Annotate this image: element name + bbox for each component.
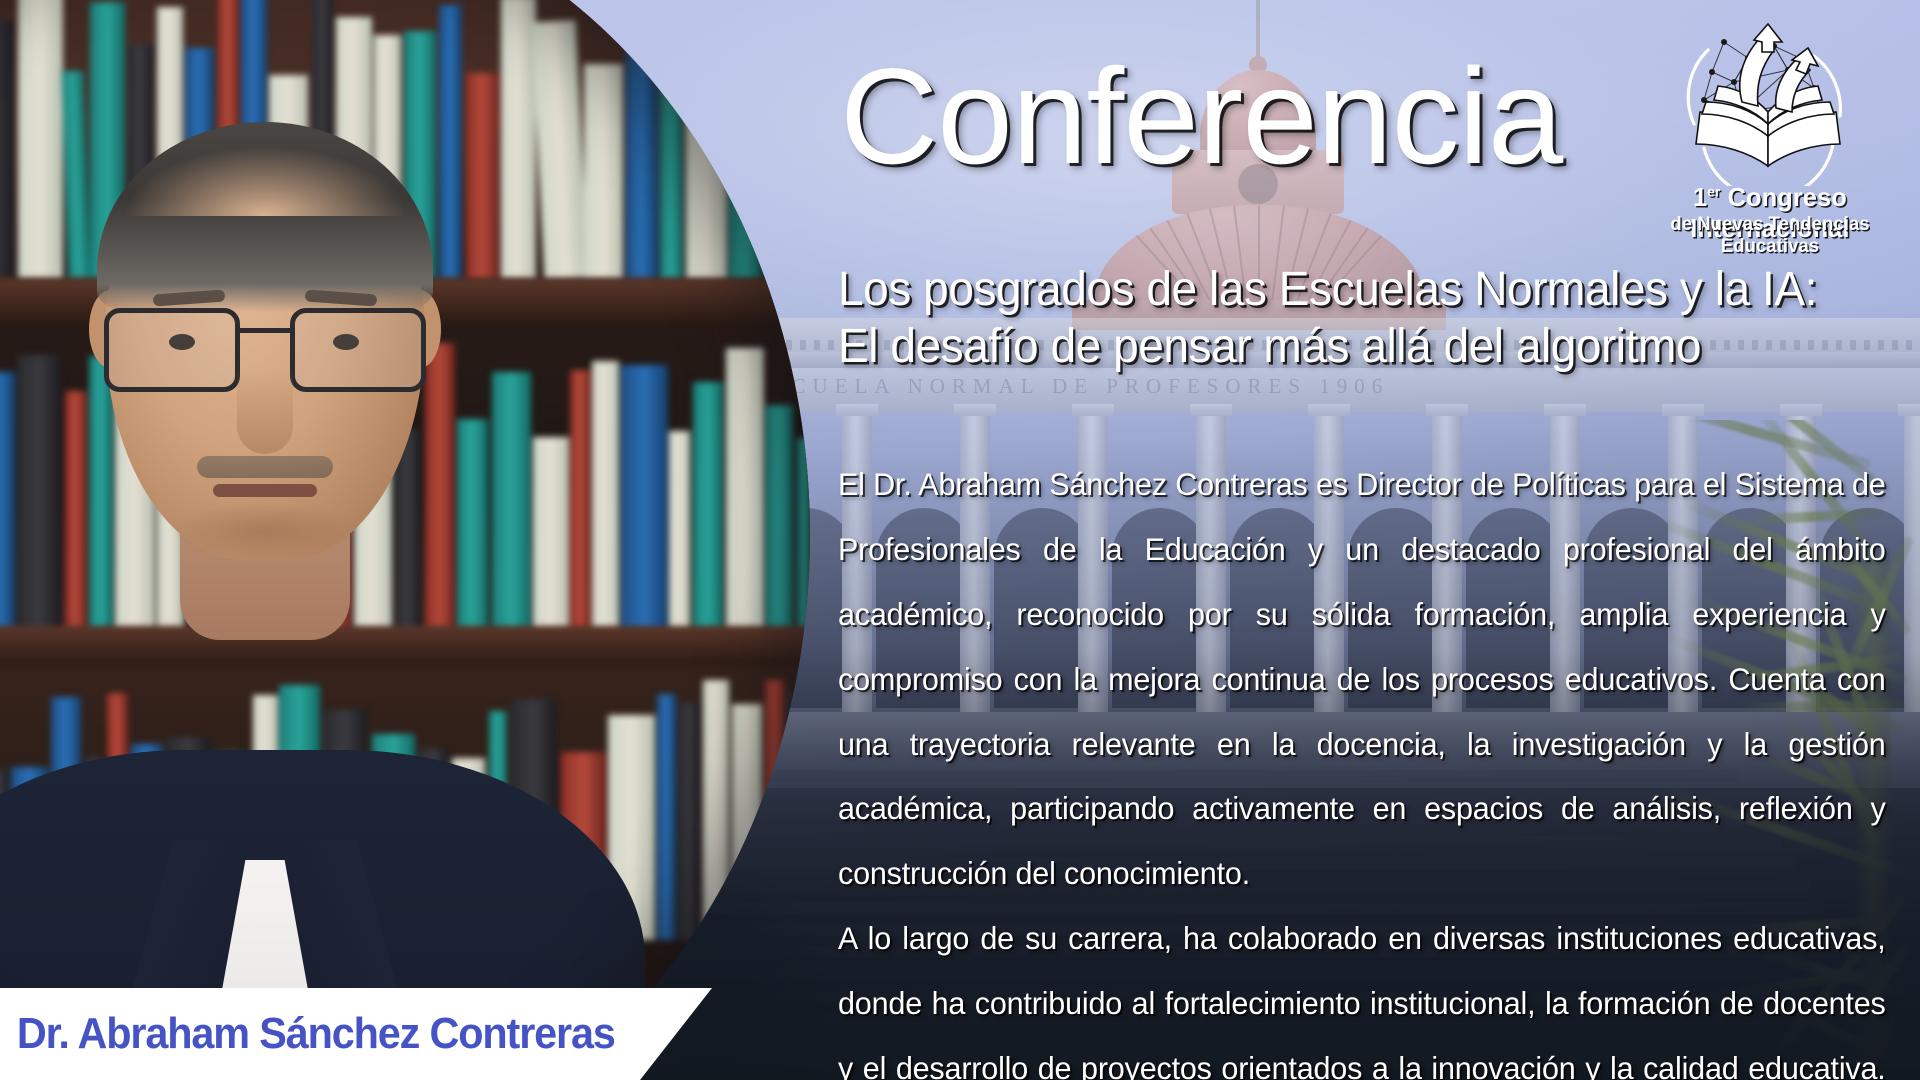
lens-left	[104, 308, 240, 392]
hair	[97, 122, 433, 312]
open-book-arrows-globe-icon	[1664, 16, 1874, 186]
mouth	[213, 484, 317, 497]
speaker-bio: El Dr. Abraham Sánchez Contreras es Dire…	[838, 452, 1886, 1080]
congress-logo: 1er Congreso Internacional de Nuevas Ten…	[1636, 16, 1904, 242]
lens-right	[290, 308, 426, 392]
mustache	[197, 456, 333, 478]
bio-paragraph-1: El Dr. Abraham Sánchez Contreras es Dire…	[838, 452, 1886, 906]
speaker-photo	[0, 0, 810, 1080]
talk-subtitle: Los posgrados de las Escuelas Normales y…	[838, 262, 1865, 375]
logo-ordinal: 1	[1693, 182, 1707, 212]
speaker-figure	[0, 0, 810, 1080]
speaker-name: Dr. Abraham Sánchez Contreras	[0, 1009, 615, 1059]
talk-subtitle-line2: El desafío de pensar más allá del algori…	[838, 319, 1865, 376]
glasses-bridge	[240, 328, 292, 333]
logo-line-2: de Nuevas Tendencias Educativas	[1640, 214, 1900, 258]
conference-poster: 1894 ESCUELA NORMAL DE PROFESORES 1906	[0, 0, 1920, 1080]
page-title: Conferencia	[840, 48, 1562, 184]
bio-paragraph-2: A lo largo de su carrera, ha colaborado …	[838, 906, 1886, 1080]
talk-subtitle-line1: Los posgrados de las Escuelas Normales y…	[838, 262, 1865, 319]
speaker-portrait	[0, 0, 810, 1080]
logo-ordinal-suffix: er	[1707, 183, 1720, 199]
nose	[237, 368, 293, 454]
chin-shadow	[170, 502, 360, 560]
speaker-name-banner: Dr. Abraham Sánchez Contreras	[0, 988, 712, 1080]
